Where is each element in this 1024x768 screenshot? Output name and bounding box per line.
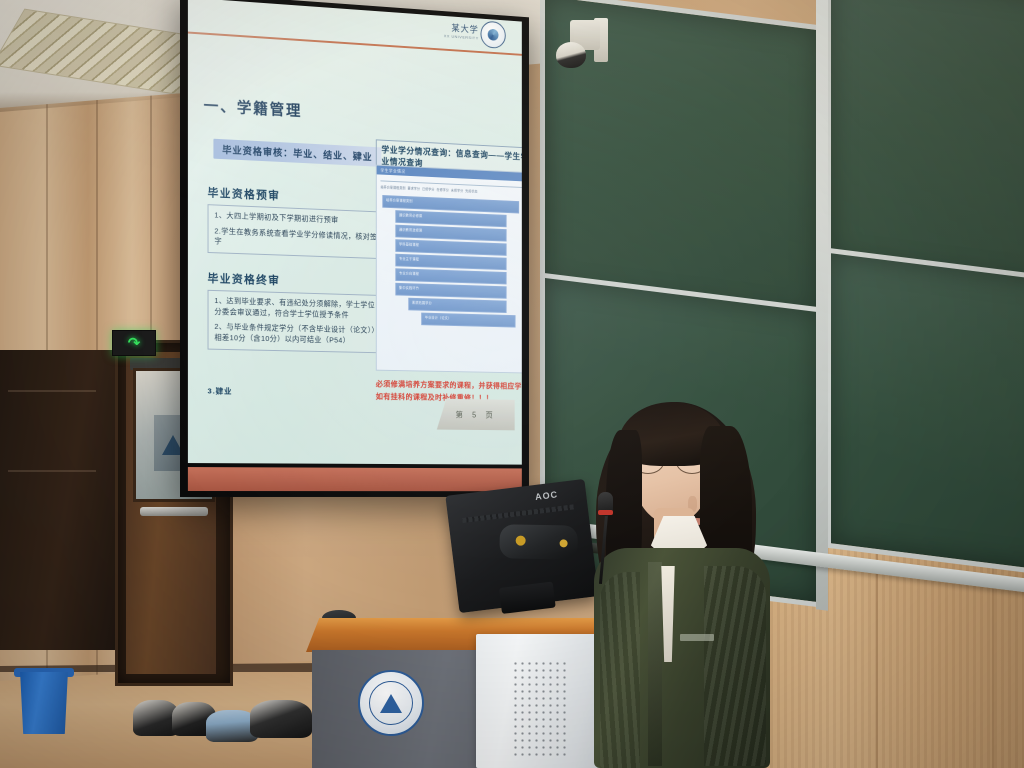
slide-title: 一、学籍管理 bbox=[204, 94, 303, 120]
app-table-rows: 培养方案课程类别 通识教育必修课 通识教育选修课 学科基础课程 专业主干课程 专… bbox=[382, 195, 519, 330]
section-b-item: 1、达到毕业要求、有违纪处分须解除，学士学位分委会审议通过，符合学士学位授予条件 bbox=[214, 296, 378, 322]
projected-slide: 某大学 XX UNIVERSITY 一、学籍管理 毕业资格审核：毕业、结业、肄业… bbox=[188, 0, 522, 465]
slide-page-number: 第 5 页 bbox=[437, 399, 515, 431]
gooseneck-microphone[interactable] bbox=[588, 396, 628, 546]
speaker-grill bbox=[512, 660, 570, 760]
monitor-cable-clamp bbox=[499, 524, 578, 559]
app-screenshot: 学生学业情况 培养方案课程类别 要求学分 已修学分 在修学分 未修学分 完成状态… bbox=[376, 165, 522, 374]
projector-screen: 某大学 XX UNIVERSITY 一、学籍管理 毕业资格审核：毕业、结业、肄业… bbox=[180, 0, 529, 497]
section-b-body: 1、达到毕业要求、有违纪处分须解除，学士学位分委会审议通过，符合学士学位授予条件… bbox=[208, 290, 386, 353]
university-name-block: 某大学 XX UNIVERSITY bbox=[444, 21, 479, 41]
section-a-body: 1、大四上学期初及下学期初进行预审 2.学生在教务系统查看学业学分修读情况，核对… bbox=[208, 204, 386, 259]
trash-bin bbox=[18, 672, 70, 734]
door-push-bar[interactable] bbox=[140, 507, 208, 516]
section-a-item: 1、大四上学期初及下学期初进行预审 bbox=[214, 210, 378, 227]
camera-dome-icon bbox=[556, 42, 586, 68]
presenter bbox=[588, 396, 768, 768]
app-table-row[interactable]: 专业主干课程 bbox=[395, 254, 506, 270]
jacket-knit-texture bbox=[704, 566, 766, 766]
security-camera bbox=[548, 18, 606, 70]
section-b-item-last: 3.肄业 bbox=[208, 385, 386, 399]
floor-bag bbox=[250, 700, 312, 738]
aoc-monitor[interactable]: AOC bbox=[445, 479, 598, 613]
university-crest-icon bbox=[358, 670, 424, 736]
jacket-zipper-placket bbox=[648, 562, 662, 766]
section-b-heading: 毕业资格终审 bbox=[208, 270, 386, 291]
exit-sign: ↷ bbox=[112, 330, 156, 356]
university-name-en: XX UNIVERSITY bbox=[444, 33, 479, 40]
chalkboard-panel bbox=[826, 0, 1024, 292]
microphone-indicator-ring bbox=[598, 510, 613, 515]
jacket-brand-tag bbox=[680, 634, 714, 641]
app-table-row[interactable]: 毕业设计（论文） bbox=[421, 313, 515, 328]
slide-subtitle: 毕业资格审核：毕业、结业、肄业 bbox=[213, 139, 381, 167]
exit-running-man-icon: ↷ bbox=[128, 336, 141, 351]
app-table-row[interactable]: 集中实践环节 bbox=[395, 283, 506, 299]
jacket-knit-texture bbox=[600, 572, 640, 768]
chalkboard-slide-rail[interactable] bbox=[816, 0, 828, 611]
slide-section-final-review: 毕业资格终审 1、达到毕业要求、有违纪处分须解除，学士学位分委会审议通过，符合学… bbox=[208, 270, 386, 353]
section-a-item: 2.学生在教务系统查看学业学分修读情况，核对签字 bbox=[214, 226, 378, 253]
app-table-row[interactable]: 专业方向课程 bbox=[395, 268, 506, 284]
classroom-photo-scene: ↷ 某大学 XX UNIVE bbox=[0, 0, 1024, 768]
clamp-dial-icon bbox=[516, 536, 526, 546]
clamp-dial-icon bbox=[560, 539, 568, 547]
wall-cabinet bbox=[0, 350, 118, 650]
university-logo-icon bbox=[480, 21, 505, 49]
chalkboard-panel bbox=[826, 248, 1024, 577]
app-table-row[interactable]: 学科基础课程 bbox=[395, 239, 506, 256]
slide-section-preliminary-review: 毕业资格预审 1、大四上学期初及下学期初进行预审 2.学生在教务系统查看学业学分… bbox=[208, 184, 386, 259]
app-table-row[interactable]: 素质拓展学分 bbox=[408, 298, 506, 313]
screen-bottom-band bbox=[188, 467, 522, 491]
section-b-item: 2、与毕业条件规定学分（不含毕业设计（论文））相差10分（含10分）以内可结业（… bbox=[214, 322, 378, 347]
section-a-heading: 毕业资格预审 bbox=[208, 184, 386, 208]
